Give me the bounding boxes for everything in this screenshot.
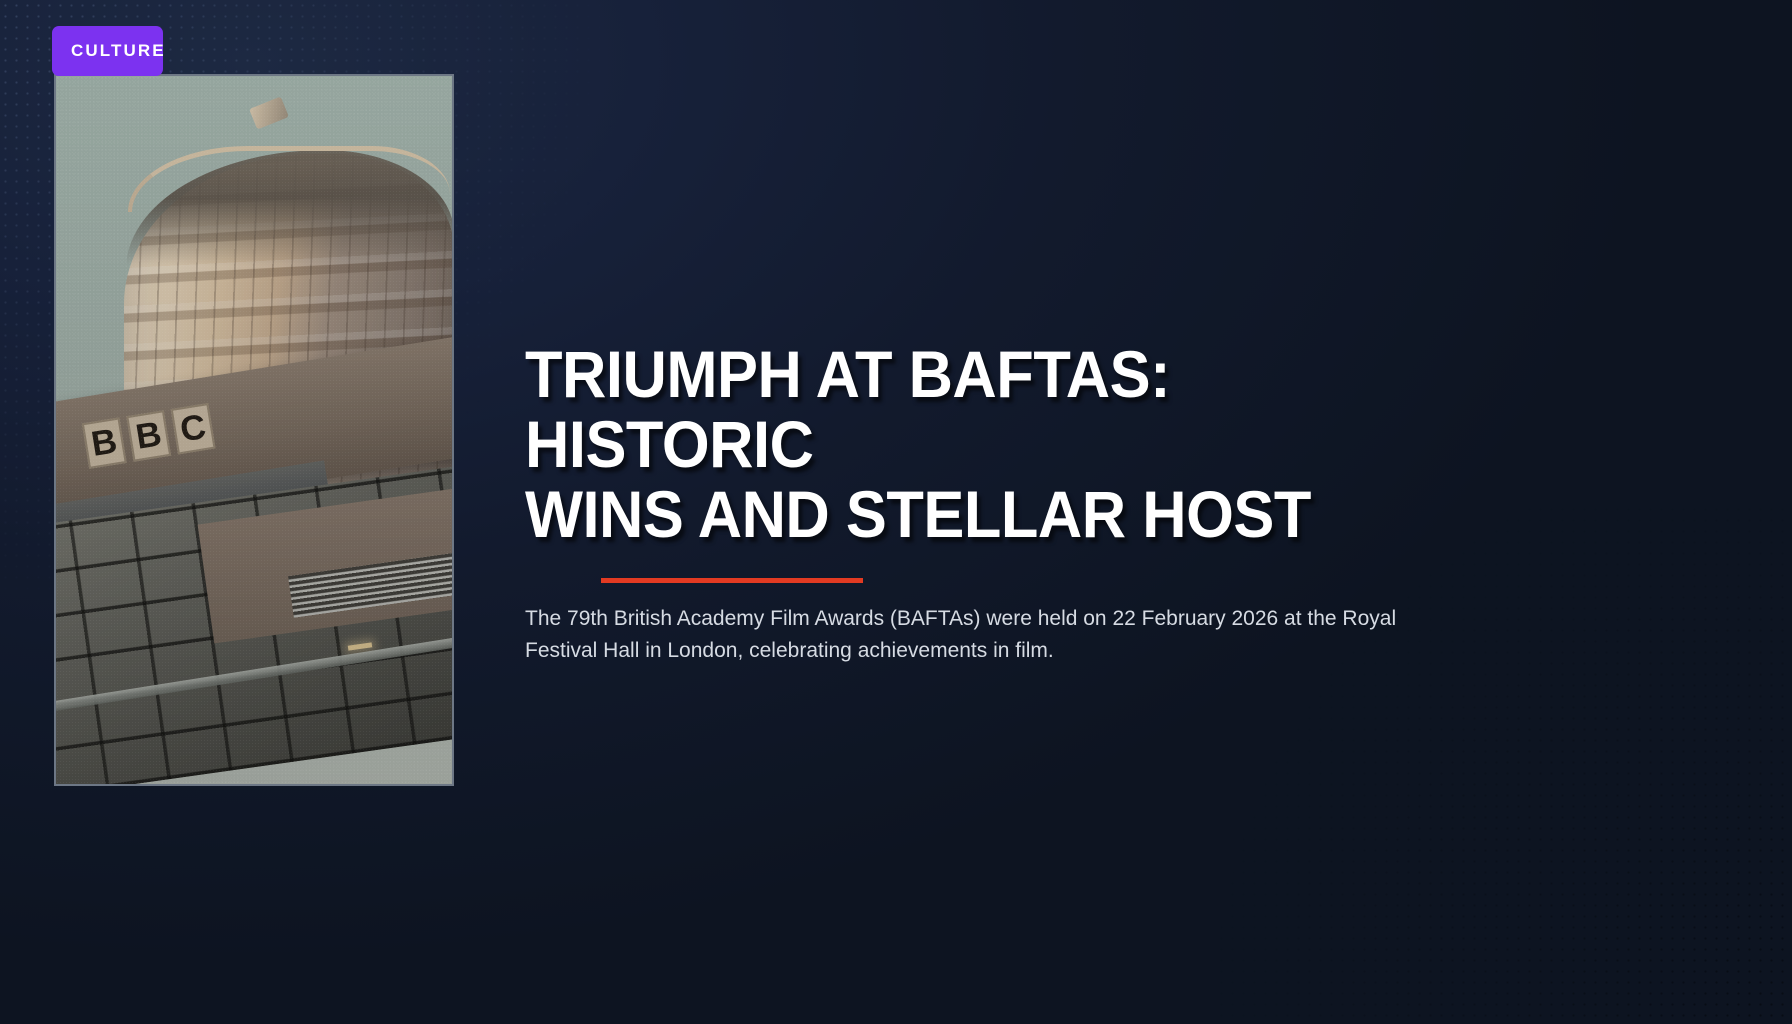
category-badge-label: CULTURE (52, 41, 163, 61)
article-card: B B C CULTURE TRIUMPH AT BAFTAS: HISTORI… (0, 0, 1792, 1024)
page-title: TRIUMPH AT BAFTAS: HISTORIC WINS AND STE… (525, 340, 1381, 550)
title-divider (601, 578, 863, 583)
category-badge[interactable]: CULTURE (52, 26, 163, 76)
article-image-panel[interactable]: B B C (54, 74, 454, 786)
bbc-building-photo: B B C (56, 76, 452, 784)
photo-grain-overlay (56, 76, 452, 784)
article-text-column: TRIUMPH AT BAFTAS: HISTORIC WINS AND STE… (525, 340, 1445, 688)
article-standfirst: The 79th British Academy Film Awards (BA… (525, 603, 1415, 667)
